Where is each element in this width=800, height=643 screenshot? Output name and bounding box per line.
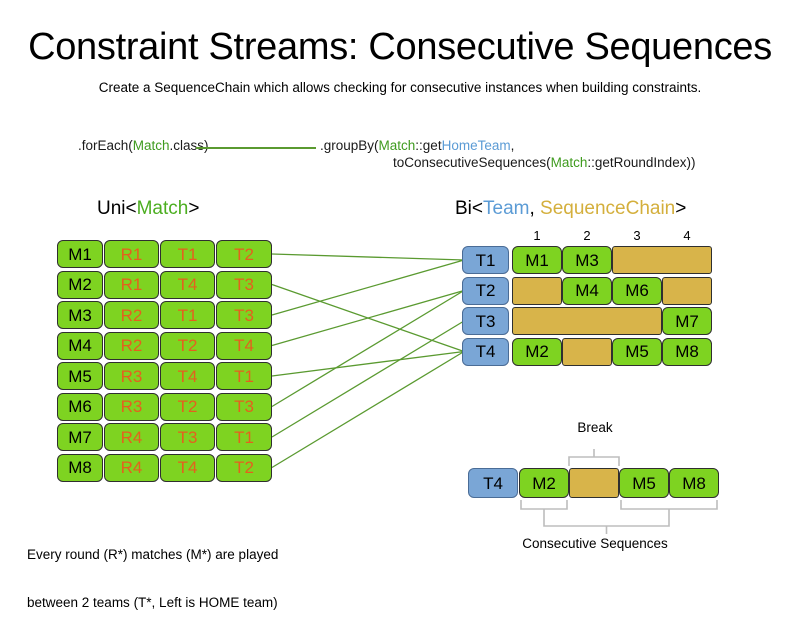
uni-cell-round-5: R3	[104, 362, 159, 390]
uni-cell-match-7: M7	[57, 423, 103, 451]
connector-M3-to-T1	[272, 260, 464, 315]
uni-cell-away-7: T1	[216, 423, 272, 451]
bi-header-suffix: >	[675, 198, 686, 219]
uni-cell-home-1: T1	[160, 240, 215, 268]
uni-cell-round-2: R1	[104, 271, 159, 299]
bi-slot-T4-1: M2	[512, 338, 562, 366]
bi-column-number-3: 3	[627, 228, 647, 243]
uni-cell-match-6: M6	[57, 393, 103, 421]
uni-cell-home-2: T4	[160, 271, 215, 299]
bi-team-pill-T3: T3	[462, 307, 509, 335]
connector-M1-to-T1	[272, 254, 464, 260]
bi-column-number-4: 4	[677, 228, 697, 243]
break-diagram-slot-4: M8	[669, 468, 719, 498]
bi-team-pill-T2: T2	[462, 277, 509, 305]
legend-caption: Every round (R*) matches (M*) are played…	[27, 515, 278, 643]
uni-header: Uni<Match>	[97, 198, 199, 220]
uni-cell-round-1: R1	[104, 240, 159, 268]
connector-M6-to-T2	[272, 291, 464, 407]
uni-cell-round-4: R2	[104, 332, 159, 360]
uni-cell-match-1: M1	[57, 240, 103, 268]
break-diagram-sequences-label: Consecutive Sequences	[455, 536, 735, 551]
uni-cell-away-8: T2	[216, 454, 272, 482]
uni-cell-match-8: M8	[57, 454, 103, 482]
code-group-by-member: HomeTeam	[442, 138, 511, 153]
code-to-cons-suffix: ::getRoundIndex))	[587, 155, 695, 170]
bi-slot-T4-4: M8	[662, 338, 712, 366]
uni-cell-round-7: R4	[104, 423, 159, 451]
uni-cell-away-1: T2	[216, 240, 272, 268]
uni-header-prefix: Uni<	[97, 198, 137, 219]
uni-cell-round-3: R2	[104, 301, 159, 329]
bi-column-number-1: 1	[527, 228, 547, 243]
bi-gap-T3-1-3	[512, 307, 662, 335]
bi-header: Bi<Team, SequenceChain>	[455, 198, 686, 220]
connector-M5-to-T4	[272, 352, 464, 377]
bi-slot-T3-4: M7	[662, 307, 712, 335]
page-subtitle: Create a SequenceChain which allows chec…	[0, 80, 800, 95]
bi-team-sequence-table: T1M1M3T2M4M6T3M7T4M2M5M8	[462, 246, 714, 370]
brace-sequence-1	[521, 500, 567, 517]
brace-consecutive-sequences	[544, 517, 669, 534]
bi-header-value: SequenceChain	[540, 198, 675, 219]
connector-M4-to-T2	[272, 291, 464, 346]
uni-header-type: Match	[137, 198, 189, 219]
connector-M7-to-T3	[272, 321, 464, 437]
code-for-each: .forEach(Match.class)	[78, 138, 209, 153]
bi-header-prefix: Bi<	[455, 198, 483, 219]
uni-cell-home-8: T4	[160, 454, 215, 482]
bi-gap-T1-3-4	[612, 246, 712, 274]
legend-caption-line1: Every round (R*) matches (M*) are played	[27, 547, 278, 563]
uni-cell-home-6: T2	[160, 393, 215, 421]
code-group-by-suffix: ,	[511, 138, 515, 153]
bi-slot-T1-2: M3	[562, 246, 612, 274]
uni-cell-away-5: T1	[216, 362, 272, 390]
bi-team-pill-T1: T1	[462, 246, 509, 274]
code-group-by: .groupBy(Match::getHomeTeam,	[320, 138, 514, 153]
uni-cell-away-2: T3	[216, 271, 272, 299]
break-diagram: Break T4M2M5M8 Consecutive Sequences	[455, 420, 735, 560]
legend-caption-line2: between 2 teams (T*, Left is HOME team)	[27, 595, 278, 611]
bi-slot-T2-3: M6	[612, 277, 662, 305]
uni-cell-round-6: R3	[104, 393, 159, 421]
break-diagram-team-pill: T4	[468, 468, 518, 498]
code-group-by-mid: ::get	[415, 138, 441, 153]
uni-cell-match-3: M3	[57, 301, 103, 329]
uni-match-table: M1R1T1T2M2R1T4T3M3R2T1T3M4R2T2T4M5R3T4T1…	[57, 240, 269, 484]
code-connector-line	[196, 147, 316, 149]
uni-header-suffix: >	[188, 198, 199, 219]
uni-cell-match-2: M2	[57, 271, 103, 299]
bi-header-key: Team	[483, 198, 529, 219]
bi-slot-T1-1: M1	[512, 246, 562, 274]
code-to-cons-prefix: toConsecutiveSequences(	[393, 155, 551, 170]
bi-gap-T2-1-1	[512, 277, 562, 305]
uni-cell-home-3: T1	[160, 301, 215, 329]
code-for-each-suffix: .class)	[170, 138, 209, 153]
bi-header-sep: ,	[529, 198, 540, 219]
uni-cell-home-7: T3	[160, 423, 215, 451]
slide-canvas: Constraint Streams: Consecutive Sequence…	[0, 0, 800, 600]
uni-cell-away-4: T4	[216, 332, 272, 360]
break-diagram-slot-3: M5	[619, 468, 669, 498]
bi-gap-T2-4-4	[662, 277, 712, 305]
connector-M8-to-T4	[272, 352, 464, 468]
code-to-cons-type: Match	[551, 155, 588, 170]
brace-break	[569, 449, 619, 466]
code-for-each-prefix: .forEach(	[78, 138, 133, 153]
bi-team-pill-T4: T4	[462, 338, 509, 366]
bi-slot-T2-2: M4	[562, 277, 612, 305]
uni-cell-away-3: T3	[216, 301, 272, 329]
uni-cell-away-6: T3	[216, 393, 272, 421]
brace-sequence-2	[621, 500, 717, 517]
code-group-by-type: Match	[379, 138, 416, 153]
uni-cell-home-5: T4	[160, 362, 215, 390]
uni-cell-home-4: T2	[160, 332, 215, 360]
bi-column-number-2: 2	[577, 228, 597, 243]
break-diagram-gap-2	[569, 468, 619, 498]
bi-slot-T4-3: M5	[612, 338, 662, 366]
bi-gap-T4-2-2	[562, 338, 612, 366]
code-to-consecutive-sequences: toConsecutiveSequences(Match::getRoundIn…	[393, 155, 695, 170]
uni-cell-round-8: R4	[104, 454, 159, 482]
code-group-by-prefix: .groupBy(	[320, 138, 379, 153]
break-diagram-slot-1: M2	[519, 468, 569, 498]
code-for-each-type: Match	[133, 138, 170, 153]
page-title: Constraint Streams: Consecutive Sequence…	[0, 26, 800, 69]
uni-cell-match-4: M4	[57, 332, 103, 360]
connector-M2-to-T4	[272, 285, 464, 352]
uni-cell-match-5: M5	[57, 362, 103, 390]
